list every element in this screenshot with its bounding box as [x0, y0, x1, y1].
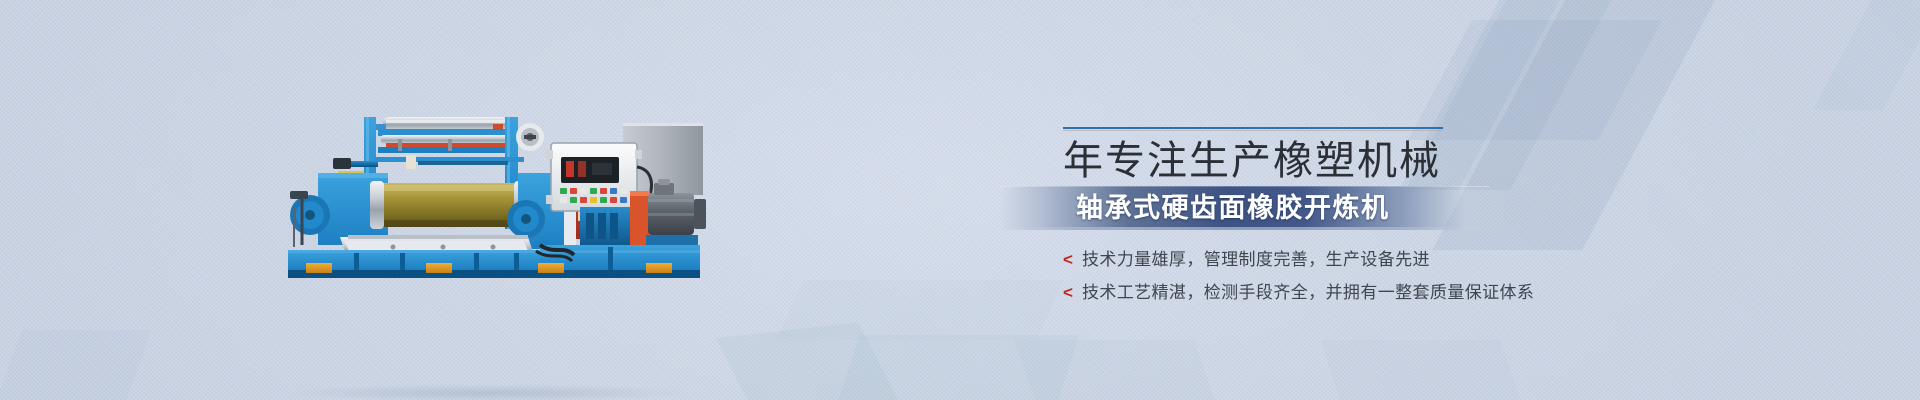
headline-divider-rule	[1063, 127, 1443, 129]
page-title: 年专注生产橡塑机械	[1063, 140, 1463, 183]
bullet-text: 技术力量雄厚，管理制度完善，生产设备先进	[1082, 249, 1430, 270]
machine-illustration	[278, 95, 708, 280]
product-image-shadow	[290, 384, 690, 400]
chevron-left-icon: <	[1063, 284, 1073, 301]
product-image-rubber-mixing-mill	[278, 95, 708, 280]
list-item: < 技术工艺精湛，检测手段齐全，并拥有一整套质量保证体系	[1063, 282, 1623, 303]
subtitle-text: 轴承式硬齿面橡胶开炼机	[1076, 190, 1496, 226]
list-item: < 技术力量雄厚，管理制度完善，生产设备先进	[1063, 249, 1623, 270]
promo-banner: 年专注生产橡塑机械 轴承式硬齿面橡胶开炼机 < 技术力量雄厚，管理制度完善，生产…	[0, 0, 1920, 400]
bullet-text: 技术工艺精湛，检测手段齐全，并拥有一整套质量保证体系	[1082, 282, 1534, 303]
headline-divider-rule-shadow	[1063, 130, 1443, 131]
chevron-left-icon: <	[1063, 251, 1073, 268]
feature-bullet-list: < 技术力量雄厚，管理制度完善，生产设备先进 < 技术工艺精湛，检测手段齐全，并…	[1063, 249, 1623, 316]
